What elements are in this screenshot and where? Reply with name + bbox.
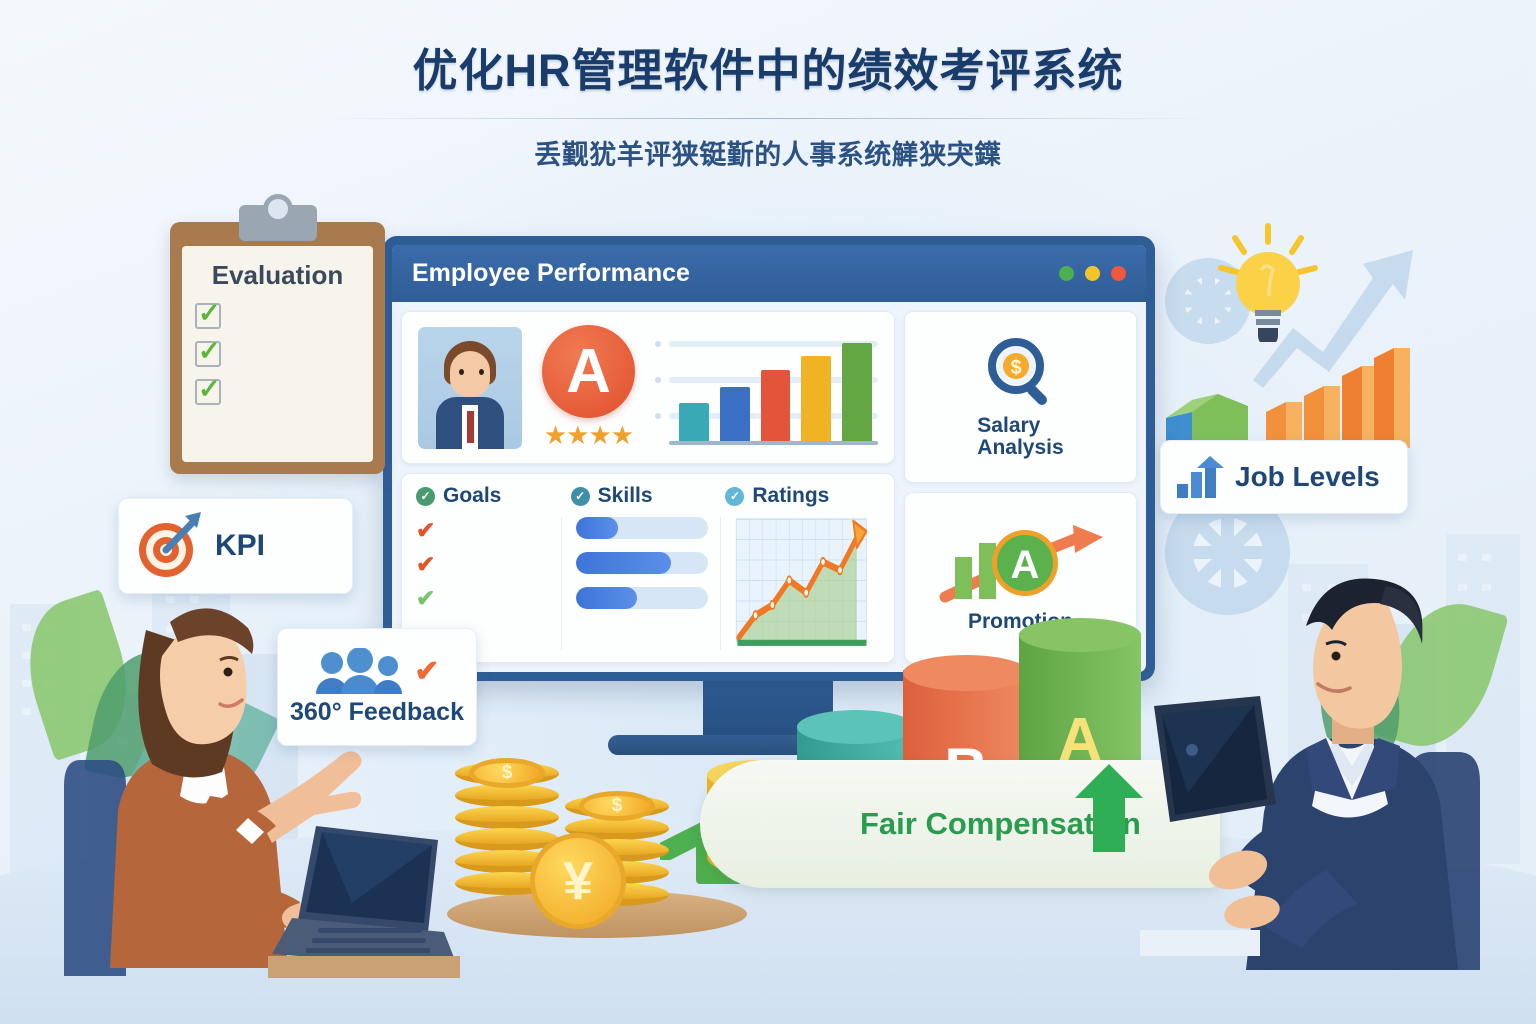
progress-bar <box>576 517 709 539</box>
green-up-arrow-icon <box>1073 762 1145 854</box>
window-controls[interactable] <box>1059 266 1126 281</box>
bar-q2 <box>720 387 750 441</box>
hr-manager-woman <box>60 560 460 980</box>
grade-letter: A <box>542 325 635 418</box>
monitor-screen: Employee Performance <box>392 245 1146 672</box>
side-panel: $ Salary Analysis <box>904 311 1137 663</box>
bar-series <box>679 343 872 441</box>
grade-badge: A ★★★★ <box>542 325 635 451</box>
check-icon: ✔ <box>414 657 439 687</box>
tab-bar: ✓ Goals ✓ Skills ✓ Ratings <box>416 484 880 508</box>
tab-content: ✔ ✔ ✔ <box>416 517 880 650</box>
yellow-dot[interactable] <box>1085 266 1100 281</box>
main-panel: A ★★★★ <box>401 311 895 663</box>
coin-dollar-icon: $ <box>469 758 545 788</box>
coin-yen-icon: ¥ <box>530 833 626 929</box>
list-item <box>195 303 360 329</box>
tab-ratings[interactable]: ✓ Ratings <box>725 484 880 508</box>
check-circle-icon: ✓ <box>571 487 590 506</box>
checkbox-checked-icon[interactable] <box>195 379 221 405</box>
check-icon: ✔ <box>416 519 435 542</box>
avatar <box>418 327 522 449</box>
tab-label: Goals <box>443 484 501 508</box>
bar-q4 <box>801 356 831 440</box>
tab-label: Skills <box>598 484 653 508</box>
progress-bar <box>576 552 709 574</box>
window-title: Employee Performance <box>412 259 690 288</box>
progress-bar <box>576 587 709 609</box>
clipboard-clip <box>239 205 317 241</box>
profile-summary-card: A ★★★★ <box>401 311 895 464</box>
star-rating: ★★★★ <box>542 420 635 451</box>
tab-label: Ratings <box>752 484 829 508</box>
trend-svg <box>735 517 868 650</box>
page-title: 优化HR管理软件中的绩效考评系统 <box>0 34 1536 99</box>
checkbox-checked-icon[interactable] <box>195 303 221 329</box>
green-dot[interactable] <box>1059 266 1074 281</box>
window-body: A ★★★★ <box>392 302 1146 672</box>
background-bar-chart <box>1262 340 1412 450</box>
grade-a-growth-icon: A <box>933 521 1108 611</box>
coin-dollar-icon: $ <box>579 791 655 821</box>
tab-goals[interactable]: ✓ Goals <box>416 484 571 508</box>
evaluation-title: Evaluation <box>195 260 360 291</box>
evaluation-clipboard: Evaluation <box>170 222 385 474</box>
svg-text:A: A <box>1011 543 1040 587</box>
monitor: Employee Performance <box>383 236 1155 681</box>
list-item: ✔ <box>416 517 549 542</box>
window-titlebar: Employee Performance <box>392 245 1146 302</box>
magnifier-dollar-icon: $ <box>984 335 1058 409</box>
people-group-icon <box>314 648 406 696</box>
salary-analysis-card[interactable]: $ Salary Analysis <box>904 311 1137 483</box>
check-circle-icon: ✓ <box>725 487 744 506</box>
job-levels-card[interactable]: Job Levels <box>1160 440 1408 514</box>
skills-list <box>561 517 721 650</box>
ratings-trend-chart <box>720 517 880 650</box>
page-header: 优化HR管理软件中的绩效考评系统 丢觐犹羊评狭铤斳的人事系统觲狭宊鐷 <box>0 34 1536 172</box>
salary-analysis-label: Salary Analysis <box>977 415 1063 459</box>
feedback-label: 360° Feedback <box>290 698 464 727</box>
lightbulb-icon <box>1213 222 1323 342</box>
svg-text:$: $ <box>1010 357 1021 379</box>
bar-q3 <box>761 370 791 441</box>
job-levels-label: Job Levels <box>1235 461 1380 493</box>
bar-q1 <box>679 403 709 440</box>
red-dot[interactable] <box>1111 266 1126 281</box>
employee-man <box>1140 540 1536 970</box>
list-item <box>195 379 360 405</box>
list-item <box>195 341 360 367</box>
ascending-bars-icon <box>1175 454 1227 500</box>
kpi-label: KPI <box>215 529 265 563</box>
feedback-card[interactable]: ✔ 360° Feedback <box>277 628 477 746</box>
tab-skills[interactable]: ✓ Skills <box>571 484 726 508</box>
header-divider <box>318 118 1218 119</box>
bar-q5 <box>842 343 872 441</box>
page-subtitle: 丢觐犹羊评狭铤斳的人事系统觲狭宊鐷 <box>0 133 1536 172</box>
clipboard-paper: Evaluation <box>182 246 373 462</box>
checkbox-checked-icon[interactable] <box>195 341 221 367</box>
performance-bar-chart <box>655 329 878 447</box>
check-circle-icon: ✓ <box>416 487 435 506</box>
